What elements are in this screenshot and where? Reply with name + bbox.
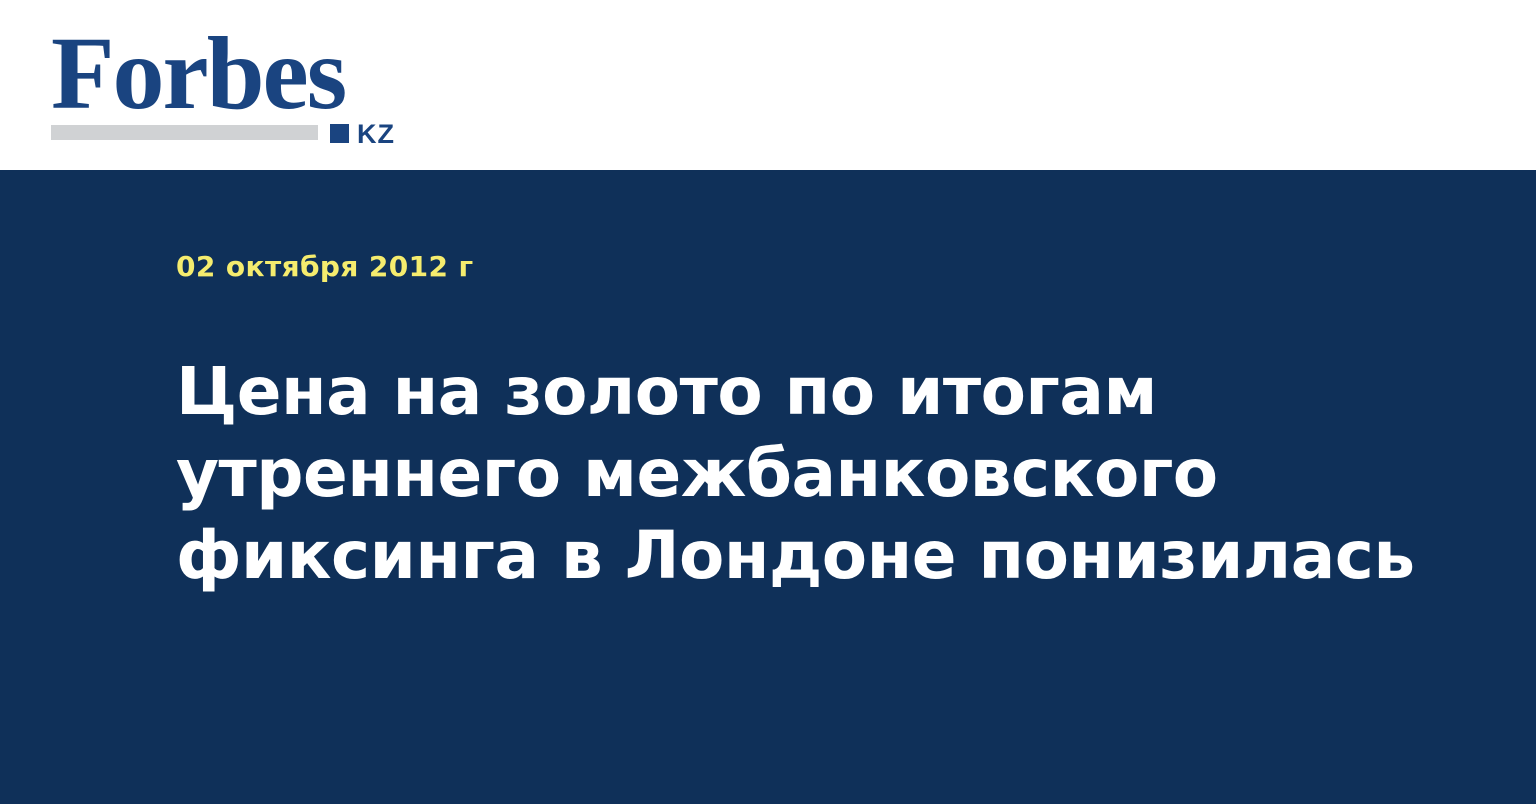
- article-hero: 02 октября 2012 г Цена на золото по итог…: [0, 170, 1536, 804]
- page-title-line: Цена на золото по итогам: [176, 351, 1356, 433]
- logo-kz-label: KZ: [357, 121, 395, 148]
- gray-rule-icon: [51, 125, 318, 140]
- page-title: Цена на золото по итогам утреннего межба…: [176, 351, 1356, 597]
- page-title-line: утреннего межбанковского: [176, 433, 1356, 515]
- site-header: Forbes KZ: [0, 0, 1536, 170]
- forbes-wordmark: Forbes: [51, 22, 345, 126]
- page-title-line: фиксинга в Лондоне понизилась: [176, 515, 1356, 597]
- blue-square-icon: [330, 124, 349, 143]
- page-root: Forbes KZ 02 октября 2012 г Цена на золо…: [0, 0, 1536, 804]
- article-date: 02 октября 2012 г: [176, 250, 474, 284]
- forbes-kz-logo[interactable]: Forbes KZ: [51, 22, 421, 147]
